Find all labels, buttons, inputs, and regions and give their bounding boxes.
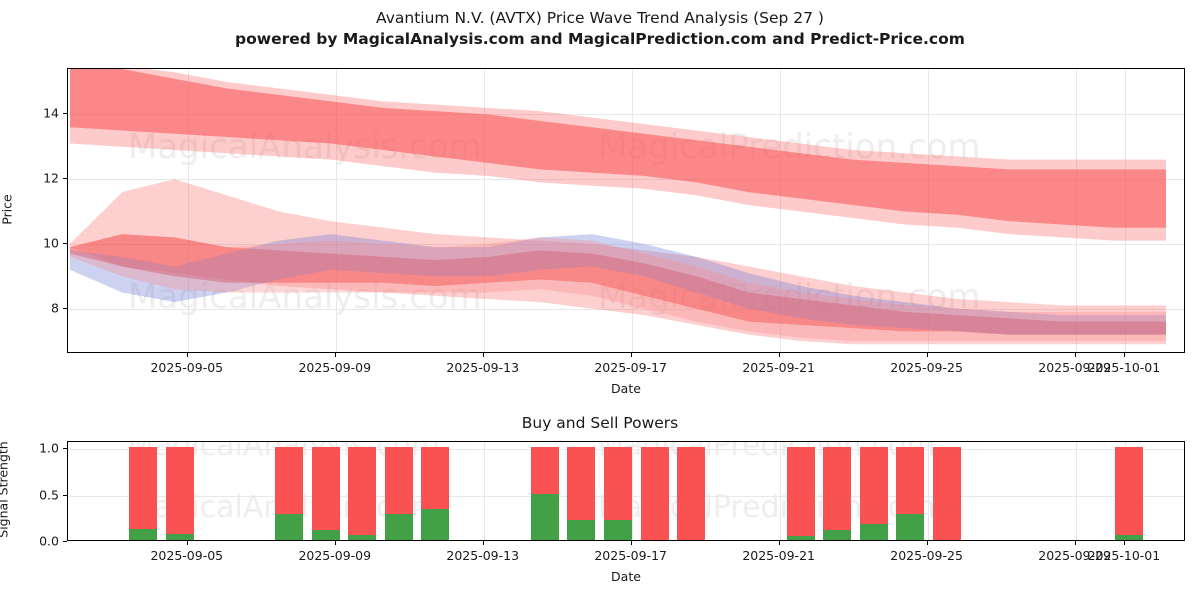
x-tick-label: 2025-09-05 <box>150 548 223 563</box>
stacked-bar <box>275 447 303 540</box>
sell-power-segment <box>312 447 340 540</box>
x-tick-label: 2025-09-25 <box>890 548 963 563</box>
sell-power-segment <box>677 447 705 540</box>
gridline-vertical <box>780 442 781 540</box>
stacked-bar <box>604 447 632 540</box>
powers-plot-area: MagicalAnalysis.comMagicalPrediction.com… <box>67 441 1185 541</box>
buy-power-segment <box>385 514 413 540</box>
stacked-bar <box>677 447 705 540</box>
sell-power-segment <box>641 447 669 540</box>
stacked-bar <box>933 447 961 540</box>
y-tick-mark <box>63 448 67 449</box>
gridline-vertical <box>1076 442 1077 540</box>
buy-power-segment <box>312 530 340 540</box>
y-tick-mark <box>63 541 67 542</box>
y-tick-label: 0.5 <box>19 487 59 502</box>
x-tick-label: 2025-10-01 <box>1088 548 1161 563</box>
buy-power-segment <box>166 534 194 540</box>
sell-power-segment <box>166 447 194 540</box>
buy-power-segment <box>348 535 376 540</box>
x-tick-mark <box>1124 541 1125 545</box>
sell-power-segment <box>933 447 961 540</box>
x-tick-label: 2025-09-17 <box>594 548 667 563</box>
stacked-bar <box>1115 447 1143 540</box>
sell-power-segment <box>348 447 376 540</box>
y-axis-label: Signal Strength <box>0 426 11 554</box>
buy-power-segment <box>567 520 595 540</box>
stacked-bar <box>312 447 340 540</box>
buy-power-segment <box>604 520 632 540</box>
buy-power-segment <box>421 509 449 540</box>
gridline-vertical <box>484 442 485 540</box>
stacked-bar <box>348 447 376 540</box>
buy-power-segment <box>860 524 888 540</box>
x-tick-label: 2025-09-09 <box>298 548 371 563</box>
sell-power-segment <box>129 447 157 540</box>
buy-power-segment <box>1115 535 1143 540</box>
x-tick-mark <box>1075 541 1076 545</box>
buy-power-segment <box>823 530 851 540</box>
stacked-bar <box>641 447 669 540</box>
buy-power-segment <box>787 536 815 540</box>
x-tick-mark <box>631 541 632 545</box>
buy-sell-powers-panel: MagicalAnalysis.comMagicalPrediction.com… <box>0 0 1200 600</box>
stacked-bar <box>166 447 194 540</box>
stacked-bar <box>787 447 815 540</box>
x-tick-mark <box>927 541 928 545</box>
sell-power-segment <box>823 447 851 540</box>
x-tick-mark <box>483 541 484 545</box>
x-axis-label: Date <box>67 569 1185 584</box>
stacked-bar <box>567 447 595 540</box>
stacked-bar <box>129 447 157 540</box>
y-tick-label: 1.0 <box>19 441 59 456</box>
y-tick-mark <box>63 495 67 496</box>
sell-power-segment <box>1115 447 1143 540</box>
stacked-bar <box>823 447 851 540</box>
x-tick-mark <box>779 541 780 545</box>
x-tick-label: 2025-09-13 <box>446 548 519 563</box>
buy-power-segment <box>896 514 924 540</box>
gridline-vertical <box>928 442 929 540</box>
y-tick-label: 0.0 <box>19 534 59 549</box>
stacked-bar <box>860 447 888 540</box>
x-tick-label: 2025-09-21 <box>742 548 815 563</box>
stacked-bar <box>531 447 559 540</box>
buy-power-segment <box>129 529 157 540</box>
x-tick-mark <box>187 541 188 545</box>
buy-power-segment <box>531 494 559 540</box>
sell-power-segment <box>787 447 815 540</box>
x-tick-mark <box>335 541 336 545</box>
stacked-bar <box>385 447 413 540</box>
stacked-bar <box>896 447 924 540</box>
stacked-bar <box>421 447 449 540</box>
chart-page: Avantium N.V. (AVTX) Price Wave Trend An… <box>0 0 1200 600</box>
buy-power-segment <box>275 514 303 540</box>
